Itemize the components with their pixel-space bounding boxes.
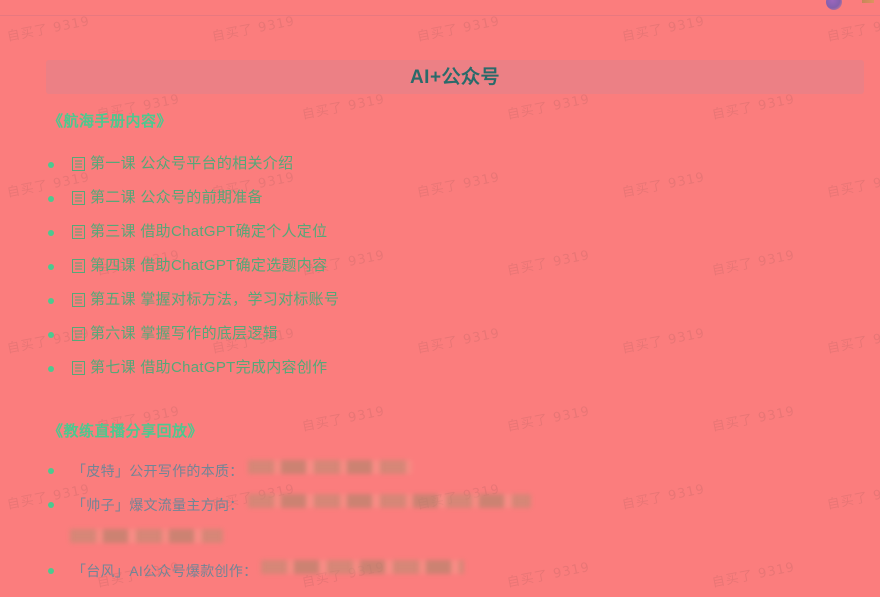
document-page: 自买了 9319自买了 9319自买了 9319自买了 9319自买了 9319… [0, 0, 880, 597]
top-chrome-bar [0, 0, 880, 16]
list-item-label: 第二课 公众号的前期准备 [90, 188, 263, 208]
redacted-link[interactable] [248, 460, 412, 474]
document-body: AI+公众号 《航海手册内容》 第一课 公众号平台的相关介绍 第二课 公众号的前… [0, 16, 880, 597]
document-icon [72, 361, 85, 375]
list-item-label: 第七课 借助ChatGPT完成内容创作 [90, 358, 327, 378]
list-item-label: 第五课 掌握对标方法，学习对标账号 [90, 290, 339, 310]
document-icon [72, 157, 85, 171]
redacted-link[interactable] [248, 494, 531, 508]
redacted-link-wrap[interactable] [70, 528, 223, 546]
bullet-icon [48, 332, 54, 338]
document-icon [72, 191, 85, 205]
section-heading-coach-replays: 《教练直播分享回放》 [48, 420, 203, 441]
list-item-label: 第三课 借助ChatGPT确定个人定位 [90, 222, 327, 242]
list-item[interactable]: 「帅子」爆文流量主方向： [48, 494, 531, 516]
list-item[interactable]: 「台风」AI公众号爆款创作： [48, 560, 464, 582]
list-item-label: 第一课 公众号平台的相关介绍 [90, 154, 293, 174]
bullet-icon [48, 468, 54, 474]
redacted-link[interactable] [70, 529, 223, 543]
list-item-label: 「帅子」爆文流量主方向： [72, 494, 244, 516]
bullet-icon [48, 230, 54, 236]
page-title: AI+公众号 [410, 68, 500, 87]
bullet-icon [48, 502, 54, 508]
bullet-icon [48, 298, 54, 304]
list-item[interactable]: 第四课 借助ChatGPT确定选题内容 [48, 256, 327, 276]
section-heading-handbook: 《航海手册内容》 [48, 110, 172, 131]
bullet-icon [48, 568, 54, 574]
list-item-label: 「台风」AI公众号爆款创作： [72, 560, 257, 582]
list-item-label: 第四课 借助ChatGPT确定选题内容 [90, 256, 327, 276]
list-item[interactable]: 第七课 借助ChatGPT完成内容创作 [48, 358, 327, 378]
document-icon [72, 259, 85, 273]
list-item-label: 第六课 掌握写作的底层逻辑 [90, 324, 278, 344]
bullet-icon [48, 264, 54, 270]
list-item-label: 「皮特」公开写作的本质： [72, 460, 244, 482]
document-icon [72, 293, 85, 307]
list-item[interactable]: 第六课 掌握写作的底层逻辑 [48, 324, 278, 344]
bullet-icon [48, 162, 54, 168]
redacted-link[interactable] [261, 560, 464, 574]
list-item[interactable]: 第一课 公众号平台的相关介绍 [48, 154, 293, 174]
document-icon [72, 327, 85, 341]
page-title-banner: AI+公众号 [46, 60, 864, 94]
list-item[interactable]: 第五课 掌握对标方法，学习对标账号 [48, 290, 339, 310]
list-item[interactable]: 第二课 公众号的前期准备 [48, 188, 263, 208]
extension-badge-icon[interactable] [826, 0, 842, 10]
bullet-icon [48, 196, 54, 202]
overflow-icon[interactable] [862, 0, 874, 3]
document-icon [72, 225, 85, 239]
list-item[interactable]: 「皮特」公开写作的本质： [48, 460, 412, 482]
bullet-icon [48, 366, 54, 372]
list-item[interactable]: 第三课 借助ChatGPT确定个人定位 [48, 222, 327, 242]
